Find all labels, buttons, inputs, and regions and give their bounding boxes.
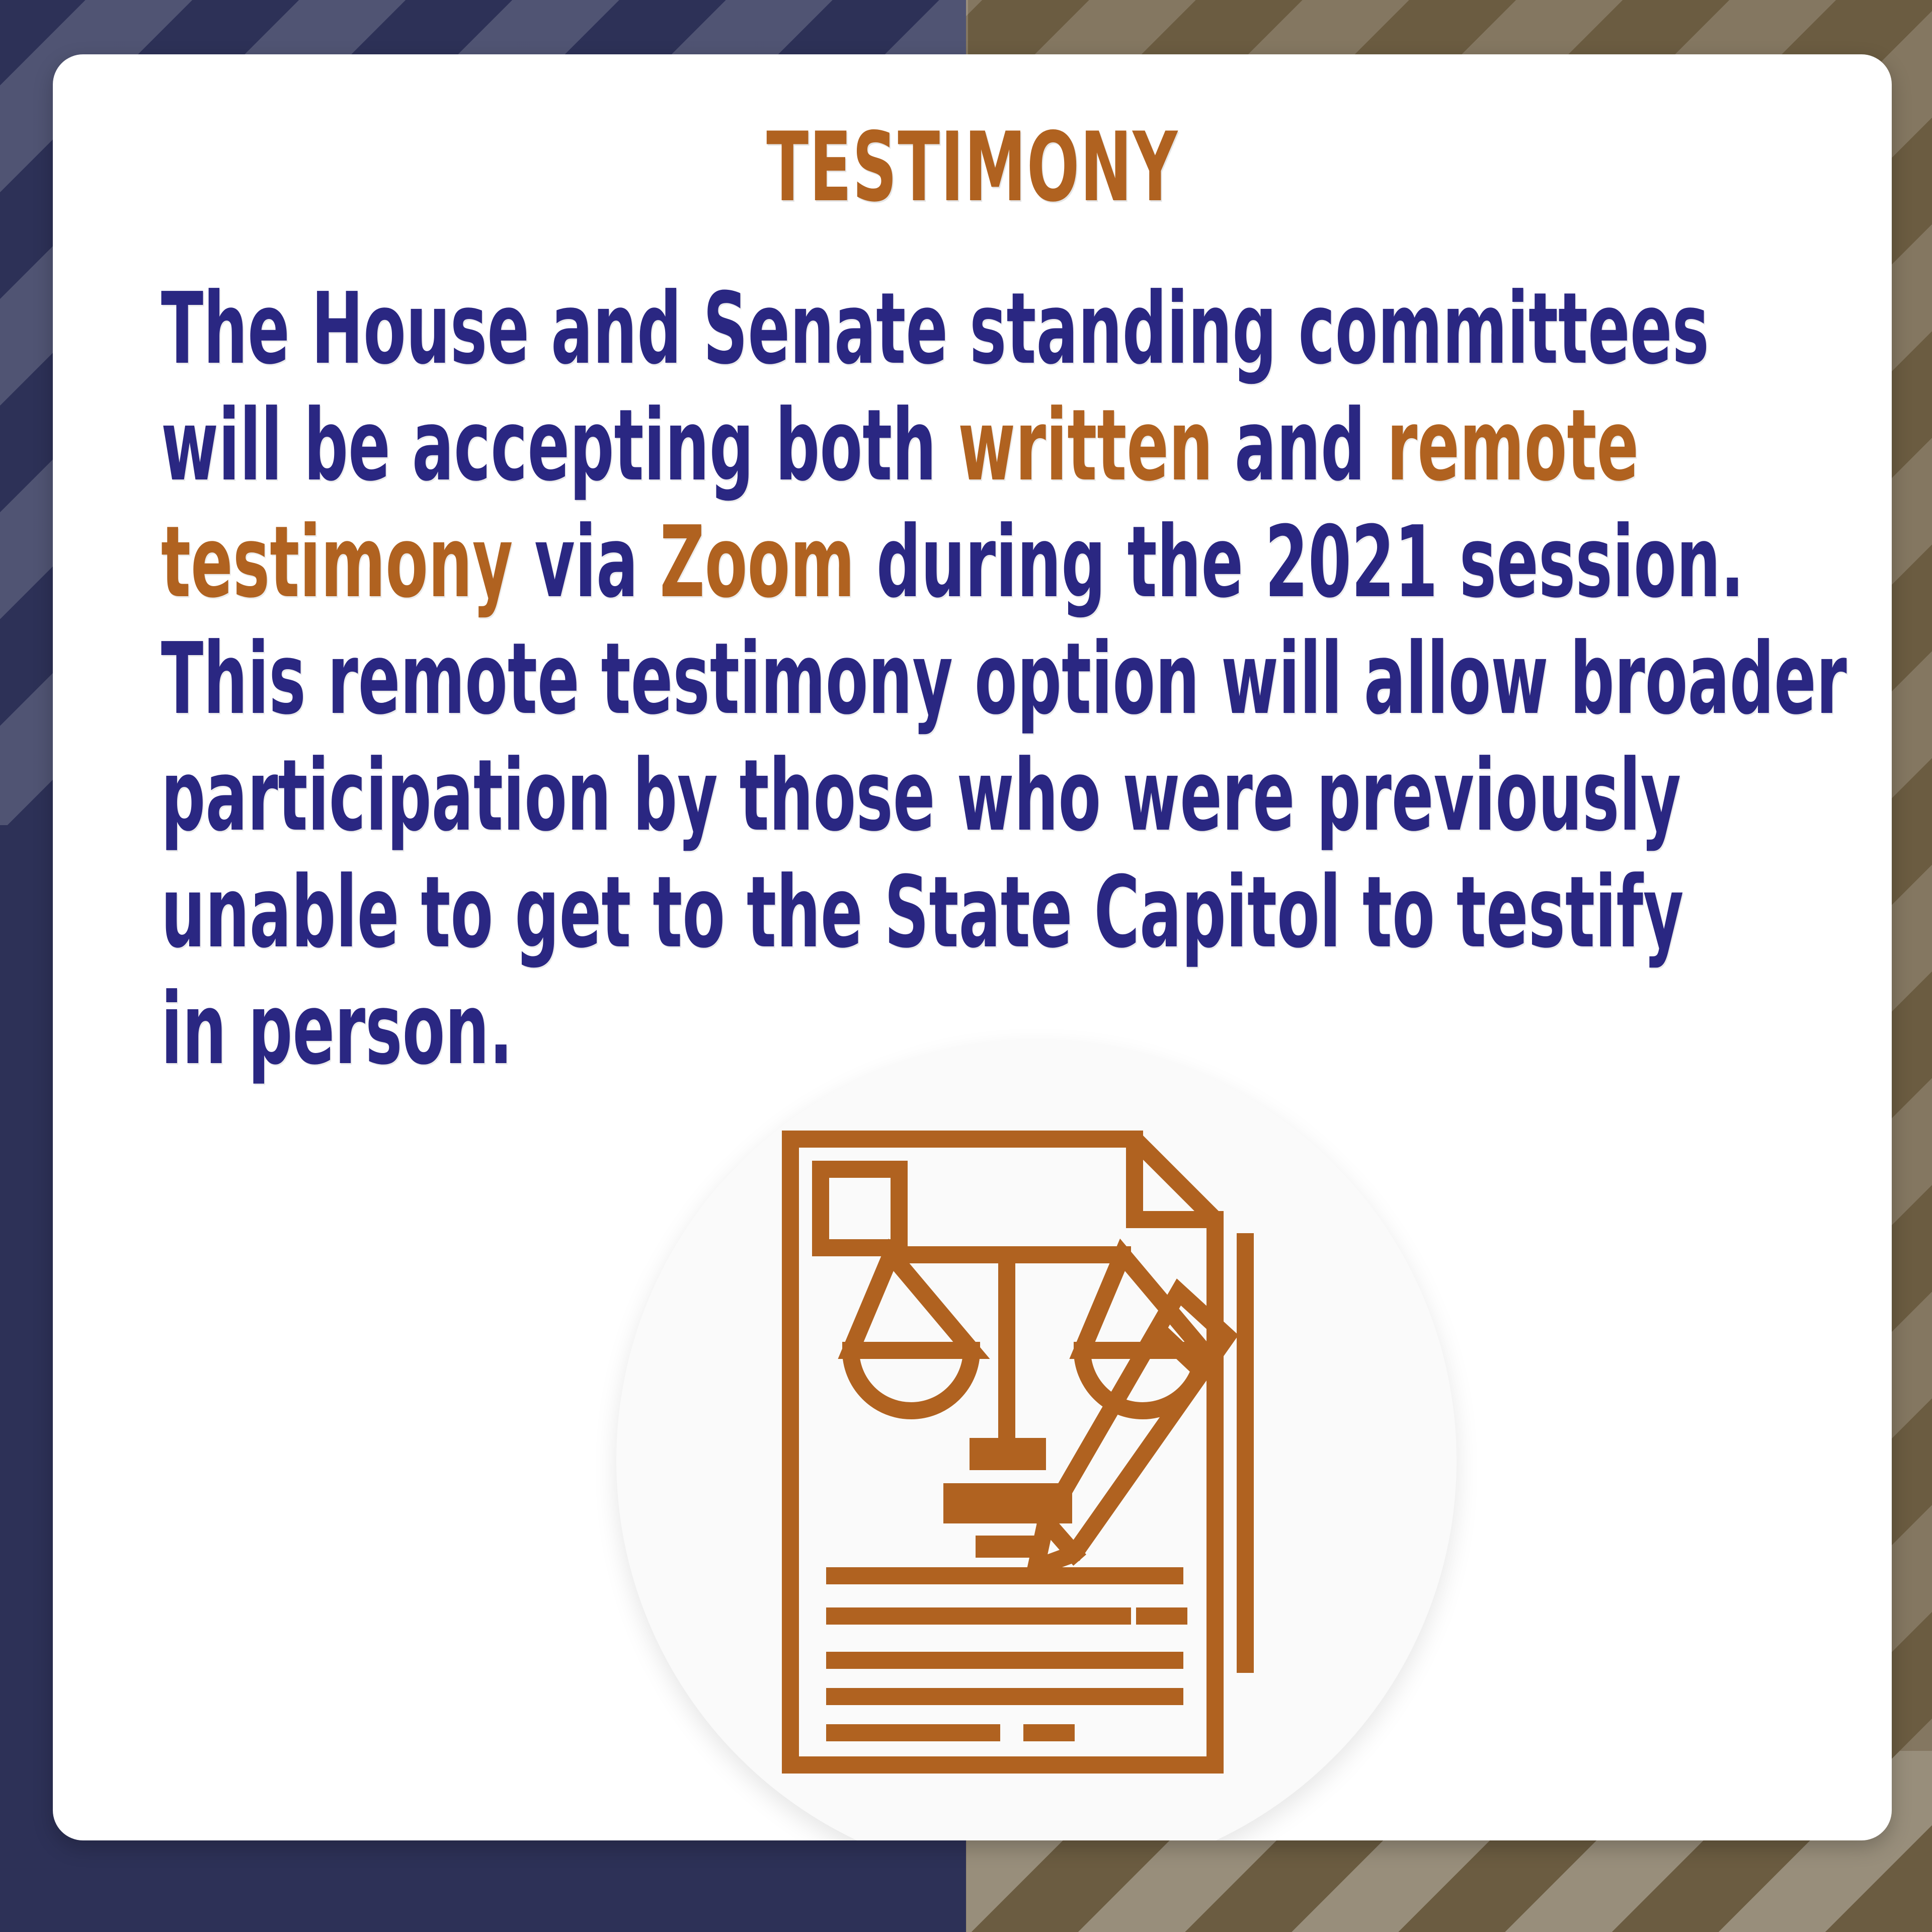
body-text-segment: during the 2021 session.: [855, 505, 1744, 620]
body-text-segment: This remote testimony option will allow …: [161, 622, 1847, 737]
body-line-3: testimony via Zoom during the 2021 sessi…: [161, 504, 1341, 621]
body-line-5: participation by those who were previous…: [161, 738, 1341, 854]
body-text-segment: unable to get to the State Capitol to te…: [161, 855, 1683, 970]
pen-nib-line: [1046, 1521, 1074, 1554]
legal-document-with-scales-and-pen-icon: [772, 1121, 1336, 1795]
body-line-2: will be accepting both written and remot…: [161, 387, 1341, 504]
scales-left-strings: [851, 1255, 972, 1350]
scales-left-pan: [851, 1350, 972, 1411]
page-title: TESTIMONY: [310, 54, 1635, 215]
body-text-segment: The House and Senate standing committees: [161, 272, 1709, 386]
scales-base-upper: [970, 1438, 1046, 1470]
body-text-segment: via: [513, 505, 660, 620]
highlight-written: written: [958, 388, 1213, 503]
highlight-testimony: testimony: [161, 505, 513, 620]
body-line-1: The House and Senate standing committees: [161, 271, 1341, 387]
body-line-4: This remote testimony option will allow …: [161, 621, 1341, 738]
body-text-segment: will be accepting both: [161, 388, 958, 503]
body-paragraph: The House and Senate standing committees…: [161, 271, 1846, 1088]
poster-canvas: TESTIMONY The House and Senate standing …: [0, 0, 1932, 1932]
body-line-6: unable to get to the State Capitol to te…: [161, 854, 1341, 971]
checkbox-square: [821, 1169, 899, 1248]
content-card: TESTIMONY The House and Senate standing …: [53, 54, 1892, 1840]
body-text-segment: participation by those who were previous…: [161, 739, 1681, 853]
body-text-segment: and: [1213, 388, 1387, 503]
body-text-segment: in person.: [161, 972, 513, 1087]
highlight-remote: remote: [1387, 388, 1639, 503]
highlight-zoom: Zoom: [660, 505, 855, 620]
